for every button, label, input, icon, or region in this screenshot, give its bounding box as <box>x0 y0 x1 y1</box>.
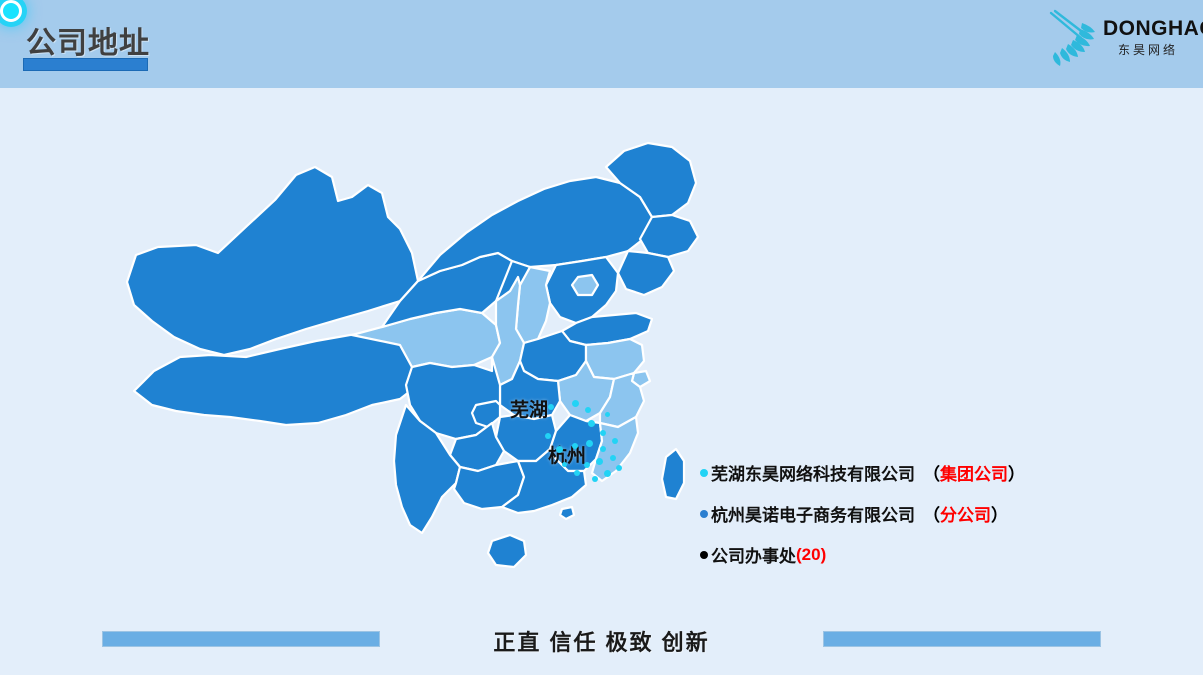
legend-bullet-icon <box>700 551 708 559</box>
legend-tag-open: （ <box>923 501 940 526</box>
feather-logo-icon <box>1041 8 1103 68</box>
logo-text-block: DONGHAO 东昊网络 <box>1103 18 1193 56</box>
footer-decoration-bar-right <box>823 631 1101 647</box>
province-xinjiang <box>127 167 418 355</box>
province-taiwan <box>662 449 684 499</box>
legend-label: 芜湖东昊网络科技有限公司 <box>711 460 915 485</box>
logo-name: DONGHAO <box>1103 18 1193 39</box>
province-liaoning <box>618 251 674 295</box>
municipality-chongqing <box>472 401 500 427</box>
legend-label: 公司办事处 <box>711 542 796 567</box>
legend: 芜湖东昊网络科技有限公司 （ 集团公司 ） 杭州昊诺电子商务有限公司 （ 分公司… <box>700 460 1120 583</box>
province-hainan <box>488 535 526 567</box>
legend-tag-close: ） <box>1008 460 1025 485</box>
legend-tag: 集团公司 <box>940 460 1008 485</box>
legend-bullet-icon <box>700 469 708 477</box>
company-logo: DONGHAO 东昊网络 <box>1041 8 1191 70</box>
municipality-beijing <box>572 275 598 295</box>
region-hongkong <box>560 507 574 519</box>
legend-tag: 分公司 <box>940 501 991 526</box>
legend-item-group-company[interactable]: 芜湖东昊网络科技有限公司 （ 集团公司 ） <box>700 460 1120 485</box>
legend-item-branch-company[interactable]: 杭州昊诺电子商务有限公司 （ 分公司 ） <box>700 501 1120 526</box>
legend-item-offices[interactable]: 公司办事处 (20) <box>700 542 1120 567</box>
legend-label: 杭州昊诺电子商务有限公司 <box>711 501 915 526</box>
page-title: 公司地址 <box>26 18 150 62</box>
legend-tag: (20) <box>796 545 826 565</box>
page-header: 公司地址 DONGHAO 东昊网络 <box>0 0 1203 88</box>
logo-subtitle: 东昊网络 <box>1103 44 1193 56</box>
province-tibet <box>134 333 418 425</box>
province-inner-mongolia <box>418 177 652 281</box>
legend-tag-close: ） <box>991 501 1008 526</box>
legend-bullet-icon <box>700 510 708 518</box>
title-underline-accent <box>23 58 148 71</box>
province-jilin <box>640 215 698 257</box>
map-label-wuhu: 芜湖 <box>510 395 548 422</box>
legend-tag-open: （ <box>923 460 940 485</box>
map-label-hangzhou: 杭州 <box>548 441 586 468</box>
china-map-svg <box>100 105 720 615</box>
china-map[interactable]: 芜湖 杭州 <box>100 105 720 615</box>
